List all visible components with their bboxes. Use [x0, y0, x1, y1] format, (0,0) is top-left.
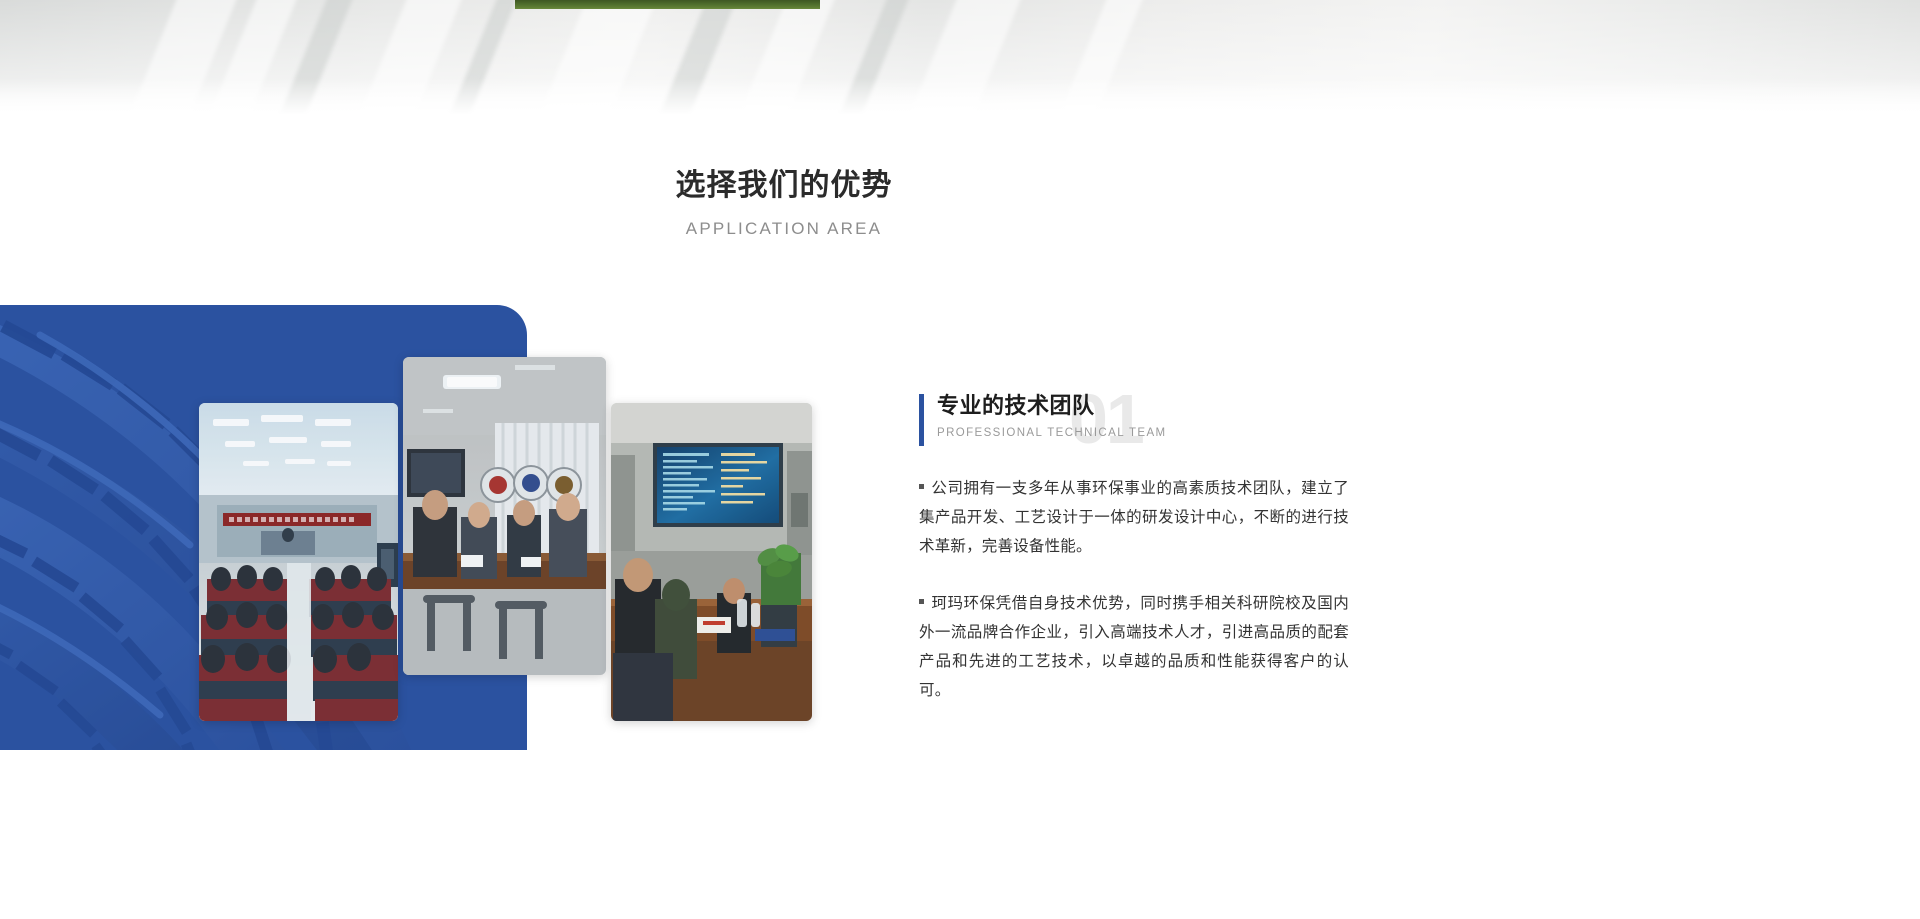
feature-paragraph-2: 珂玛环保凭借自身技术优势，同时携手相关科研院校及国内外一流品牌合作企业，引入高端… — [919, 589, 1349, 705]
bullet-icon — [919, 484, 924, 489]
grass-strip-icon — [515, 0, 820, 9]
feature-heading-row: 01 专业的技术团队 PROFESSIONAL TECHNICAL TEAM — [919, 390, 1349, 452]
feature-heading-text: 专业的技术团队 PROFESSIONAL TECHNICAL TEAM — [919, 390, 1349, 441]
page-title: 选择我们的优势 — [0, 165, 1568, 207]
feature-heading-en: PROFESSIONAL TECHNICAL TEAM — [937, 425, 1349, 441]
feature-content: 01 专业的技术团队 PROFESSIONAL TECHNICAL TEAM 公… — [919, 390, 1349, 705]
banner-bottom-fade — [0, 78, 1920, 118]
bullet-icon — [919, 599, 924, 604]
conference-hall-photo[interactable] — [199, 403, 398, 721]
feature-paragraph-1-text: 公司拥有一支多年从事环保事业的高素质技术团队，建立了集产品开发、工艺设计于一体的… — [919, 480, 1349, 555]
presentation-room-image — [611, 403, 812, 721]
meeting-room-photo[interactable] — [403, 357, 606, 675]
page-subtitle: APPLICATION AREA — [0, 217, 1568, 241]
feature-paragraph-1: 公司拥有一支多年从事环保事业的高素质技术团队，建立了集产品开发、工艺设计于一体的… — [919, 474, 1349, 561]
feature-heading-cn: 专业的技术团队 — [937, 390, 1349, 422]
page-root: 选择我们的优势 APPLICATION AREA — [0, 0, 1920, 919]
presentation-room-photo[interactable] — [611, 403, 812, 721]
top-banner — [0, 0, 1920, 118]
conference-hall-image — [199, 403, 398, 721]
feature-paragraph-2-text: 珂玛环保凭借自身技术优势，同时携手相关科研院校及国内外一流品牌合作企业，引入高端… — [919, 595, 1349, 699]
meeting-room-image — [403, 357, 606, 675]
section-heading: 选择我们的优势 APPLICATION AREA — [0, 165, 1568, 241]
